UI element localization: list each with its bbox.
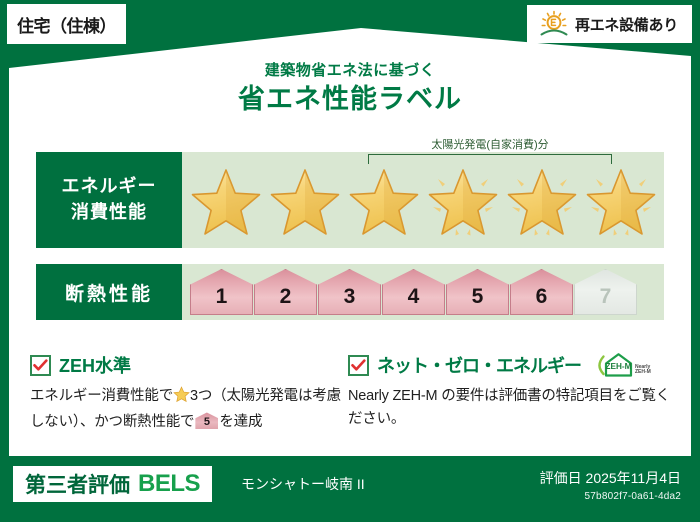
inline-level-value: 5 [195,412,218,429]
insulation-level-3: 3 [318,269,381,315]
note-zeh-standard: ZEH水準 エネルギー消費性能で3つ（太陽光発電は考慮しない）、かつ断熱性能で5… [30,352,348,435]
building-type-label: 住宅（住棟） [17,12,116,37]
nze-checkbox[interactable] [348,355,369,376]
energy-performance-label-box: エネルギー 消費性能 [36,152,182,248]
note-nze-header: ネット・ゼロ・エネルギー ZEH-M Nearly ZEH-M [348,352,675,378]
star-2 [265,152,344,248]
star-icon [347,161,421,239]
insulation-level-1: 1 [190,269,253,315]
insulation-level-value: 1 [190,269,253,315]
star-icon [505,161,579,239]
star-5 [502,152,581,248]
insulation-levels-area: 1234567 [182,264,664,320]
energy-label-line2: 消費性能 [71,200,147,226]
building-type-badge: 住宅（住棟） [7,4,126,44]
svg-text:ZEH-M: ZEH-M [635,369,651,375]
solar-sun-icon [537,9,571,39]
insulation-level-value: 7 [574,269,637,315]
star-4 [423,152,502,248]
star-icon [173,386,190,411]
note-net-zero-energy: ネット・ゼロ・エネルギー ZEH-M Nearly ZEH-M Nearly Z… [348,352,675,435]
star-rating-strip [182,152,664,248]
solar-annotation-bracket [368,154,612,164]
insulation-level-value: 5 [446,269,509,315]
title-main: 省エネ性能ラベル [0,83,700,117]
insulation-level-value: 2 [254,269,317,315]
insulation-performance-label-box: 断熱性能 [36,264,182,320]
energy-label-line1: エネルギー [62,174,157,200]
star-6 [581,152,660,248]
bels-badge: 第三者評価 BELS [13,466,212,502]
solar-annotation-caption: 太陽光発電(自家消費)分 [368,140,612,151]
third-party-evaluation-label: 第三者評価 [25,469,130,499]
zeh-checkbox[interactable] [30,355,51,376]
nze-title: ネット・ゼロ・エネルギー [377,352,581,378]
zeh-body-part3: を達成 [219,414,262,430]
star-1 [186,152,265,248]
label-footer: 第三者評価 BELS モンシャトー岐南 II 評価日 2025年11月4日 57… [9,462,691,513]
energy-performance-row: エネルギー 消費性能 太陽光発電(自家消費)分 [36,152,664,248]
insulation-level-5: 5 [446,269,509,315]
check-icon [351,359,366,372]
renewable-equipment-badge: 再エネ設備あり [527,5,692,43]
insulation-performance-row: 断熱性能 1234567 [36,264,664,320]
star-icon [189,161,263,239]
insulation-level-6: 6 [510,269,573,315]
insulation-label: 断熱性能 [65,279,153,306]
evaluation-id: 57b802f7-0a61-4da2 [540,491,681,502]
nze-body: Nearly ZEH-M の要件は評価書の特記項目をご覧ください。 [348,385,675,432]
insulation-level-value: 6 [510,269,573,315]
evaluation-date: 評価日 2025年11月4日 [540,468,681,488]
insulation-level-value: 4 [382,269,445,315]
notes-section: ZEH水準 エネルギー消費性能で3つ（太陽光発電は考慮しない）、かつ断熱性能で5… [30,352,675,435]
renewable-equipment-label: 再エネ設備あり [575,14,678,35]
star-3 [344,152,423,248]
energy-stars-area: 太陽光発電(自家消費)分 [182,152,664,248]
label-title-block: 建築物省エネ法に基づく 省エネ性能ラベル [0,62,700,117]
star-icon [268,161,342,239]
insulation-level-7: 7 [574,269,637,315]
insulation-level-4: 4 [382,269,445,315]
bels-scheme-label: BELS [138,470,200,498]
note-zeh-header: ZEH水準 [30,352,348,378]
insulation-level-value: 3 [318,269,381,315]
insulation-level-strip: 1234567 [182,269,637,315]
zeh-m-logo: ZEH-M Nearly ZEH-M [593,351,653,379]
title-subtitle: 建築物省エネ法に基づく [0,62,700,80]
star-icon [584,161,658,239]
zeh-title: ZEH水準 [59,352,131,378]
insulation-level-2: 2 [254,269,317,315]
footer-meta: 評価日 2025年11月4日 57b802f7-0a61-4da2 [540,468,681,502]
check-icon [33,359,48,372]
solar-annotation: 太陽光発電(自家消費)分 [368,140,612,164]
energy-performance-label: 住宅（住棟） 再エネ設備あり 建築物省エネ法に基づく [0,0,700,522]
svg-text:ZEH-M: ZEH-M [606,362,632,371]
zeh-body: エネルギー消費性能で3つ（太陽光発電は考慮しない）、かつ断熱性能で5を達成 [30,385,348,435]
building-name: モンシャトー岐南 II [241,474,365,494]
star-icon [426,161,500,239]
inline-level-badge: 5 [195,412,218,429]
zeh-body-part1: エネルギー消費性能で [30,388,173,404]
